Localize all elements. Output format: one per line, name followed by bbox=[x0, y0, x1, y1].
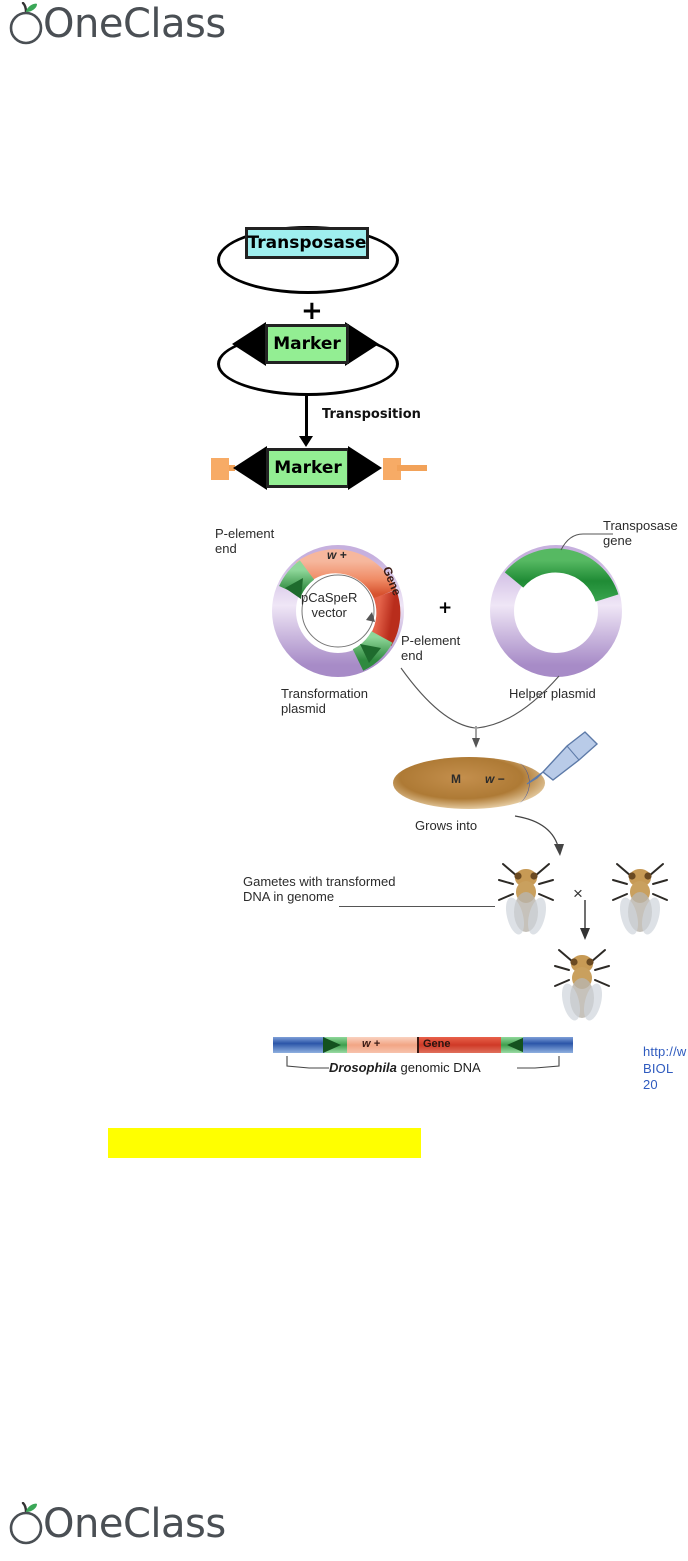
inserted-inverted-repeat-left-icon bbox=[233, 446, 267, 490]
inverted-repeat-left-icon bbox=[232, 322, 266, 366]
lecture-figure: Transposase + Marker Transposition Marke… bbox=[0, 0, 688, 1561]
source-course-fragment: BIOL 20 bbox=[643, 1061, 688, 1094]
micro-injection-needle-icon bbox=[523, 730, 603, 794]
embryo-marker-genotype-label: M bbox=[451, 772, 461, 786]
inverted-repeat-right-icon bbox=[345, 322, 379, 366]
gametes-leader-line bbox=[339, 906, 495, 907]
marker-gene-label: Marker bbox=[273, 334, 341, 354]
genomic-marker-label: w + bbox=[362, 1038, 380, 1050]
apple-logo-icon-bottom bbox=[6, 1502, 46, 1546]
w-plus-marker-label: w + bbox=[327, 548, 347, 562]
oneclass-wordmark-bottom: OneClass bbox=[43, 1504, 226, 1544]
genomic-dna-caption-rest: genomic DNA bbox=[397, 1060, 481, 1075]
plus-symbol-b: + bbox=[438, 600, 452, 617]
plus-symbol-a: + bbox=[301, 298, 323, 324]
genomic-dna-caption: Drosophila genomic DNA bbox=[329, 1060, 481, 1075]
genomic-dna-caption-italic: Drosophila bbox=[329, 1060, 397, 1075]
offspring-arrow bbox=[575, 900, 595, 944]
source-url-fragment[interactable]: http://w bbox=[643, 1044, 687, 1060]
transposition-arrow-stem bbox=[305, 396, 308, 438]
drosophila-transformation-panel: P-element end pCaSpeR vector w + Gene P-… bbox=[205, 508, 688, 1108]
marker-gene-box: Marker bbox=[265, 324, 349, 364]
genomic-gene-label: Gene bbox=[423, 1038, 451, 1050]
inserted-marker-gene-label: Marker bbox=[274, 458, 342, 478]
transposase-gene-box: Transposase bbox=[245, 227, 369, 259]
transposition-arrow-head bbox=[299, 436, 313, 447]
gametes-transformed-dna-label: Gametes with transformed DNA in genome bbox=[243, 874, 395, 905]
transformation-plasmid-caption: Transformation plasmid bbox=[281, 686, 368, 717]
transposase-gene-label: Transposase bbox=[248, 233, 367, 253]
inserted-inverted-repeat-right-icon bbox=[348, 446, 382, 490]
grows-into-label: Grows into bbox=[415, 818, 477, 833]
yellow-highlight-annotation[interactable] bbox=[108, 1128, 421, 1158]
fly-parent-wildtype bbox=[611, 860, 669, 938]
transposition-label: Transposition bbox=[322, 407, 421, 422]
fly-offspring-transgenic bbox=[553, 946, 611, 1024]
grows-into-arrow bbox=[509, 814, 579, 864]
oneclass-logo-bottom: OneClass bbox=[6, 1502, 226, 1546]
genomic-dna-line-right bbox=[397, 465, 427, 471]
genomic-dna-block-left bbox=[211, 458, 229, 480]
embryo-white-genotype-label: w − bbox=[485, 772, 505, 786]
pcaspe r-vector-label: pCaSpeR vector bbox=[301, 590, 357, 621]
p-element-end-top-label: P-element end bbox=[215, 526, 274, 557]
fly-parent-transformed bbox=[497, 860, 555, 938]
transposition-schematic-panel: Transposase + Marker Transposition Marke… bbox=[205, 214, 445, 510]
inserted-marker-gene-box: Marker bbox=[266, 448, 350, 488]
transposase-gene-leader bbox=[555, 528, 615, 558]
